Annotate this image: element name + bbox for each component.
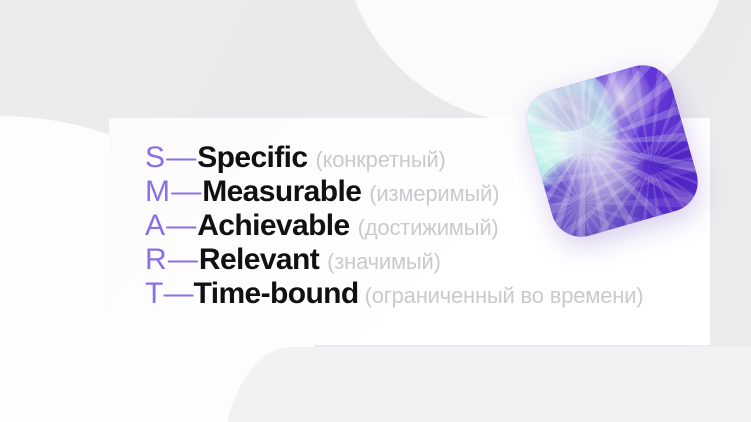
smart-separator-m: — — [171, 175, 201, 209]
smart-term-a: Achievable — [197, 209, 349, 243]
smart-row-m: M — Measurable (измеримый) — [145, 175, 705, 209]
smart-term-m: Measurable — [202, 175, 361, 209]
smart-term-t: Time-bound — [194, 277, 359, 311]
smart-acronym-list: S — Specific (конкретный) M — Measurable… — [145, 141, 705, 311]
smart-separator-t: — — [164, 277, 194, 311]
smart-gloss-r: (значимый) — [327, 249, 441, 275]
slide-canvas: S — Specific (конкретный) M — Measurable… — [0, 0, 751, 422]
smart-gloss-t: (ограниченный во времени) — [365, 283, 644, 309]
smart-row-s: S — Specific (конкретный) — [145, 141, 705, 175]
smart-gloss-m: (измеримый) — [369, 181, 499, 207]
smart-row-t: T — Time-bound (ограниченный во времени) — [145, 277, 705, 311]
background-panel — [222, 347, 751, 422]
smart-term-s: Specific — [197, 141, 307, 175]
smart-letter-s: S — [145, 141, 165, 175]
smart-letter-a: A — [145, 209, 165, 243]
smart-separator-r: — — [168, 243, 198, 277]
smart-gloss-a: (достижимый) — [358, 215, 499, 241]
smart-term-r: Relevant — [199, 243, 319, 277]
smart-row-r: R — Relevant (значимый) — [145, 243, 705, 277]
smart-letter-m: M — [145, 175, 170, 209]
smart-separator-s: — — [166, 141, 196, 175]
smart-row-a: A — Achievable (достижимый) — [145, 209, 705, 243]
smart-separator-a: — — [166, 209, 196, 243]
smart-letter-t: T — [145, 277, 164, 311]
smart-gloss-s: (конкретный) — [315, 147, 445, 173]
smart-letter-r: R — [145, 243, 167, 277]
